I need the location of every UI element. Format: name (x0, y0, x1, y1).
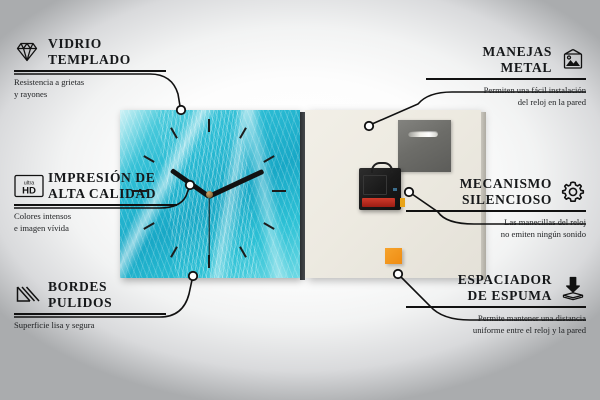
callout-rule (14, 313, 166, 315)
callout-description: Colores intensos e imagen vívida (14, 210, 184, 234)
callout-bordes-pulidos: BORDES PULIDOS Superficie lisa y segura (14, 279, 174, 331)
callout-impresion-alta-calidad: ultra HD IMPRESIÓN DE ALTA CALIDAD Color… (14, 170, 184, 234)
polished-edges-icon (14, 282, 40, 308)
gear-icon (560, 179, 586, 205)
callout-header: MECANISMO SILENCIOSO (406, 176, 586, 207)
callout-rule (14, 70, 166, 72)
clock-center-cap (206, 191, 213, 198)
picture-frame-icon (560, 47, 586, 73)
callout-description: Las manecillas del reloj no emiten ningú… (406, 216, 586, 240)
callout-title: VIDRIO TEMPLADO (48, 36, 131, 67)
infographic-canvas: VIDRIO TEMPLADO Resistencia a grietas y … (0, 0, 600, 400)
callout-rule (14, 204, 177, 206)
foam-spacer-part (385, 248, 402, 264)
callout-rule (406, 210, 586, 212)
tick-12 (208, 119, 210, 132)
callout-title: BORDES PULIDOS (48, 279, 112, 310)
mechanism-hook (371, 162, 393, 173)
callout-description: Permiten una fácil instalación del reloj… (426, 84, 586, 108)
mechanism-detail-line (363, 175, 387, 195)
ultra-hd-icon: ultra HD (14, 173, 40, 199)
tick-3 (272, 190, 286, 192)
arrow-down-block-icon (560, 275, 586, 301)
callout-title: MANEJAS METAL (483, 44, 552, 75)
mechanism-led (393, 188, 397, 191)
callout-mecanismo-silencioso: MECANISMO SILENCIOSO Las manecillas del … (406, 176, 586, 240)
callout-header: ESPACIADOR DE ESPUMA (406, 272, 586, 303)
battery-part (362, 198, 395, 207)
callout-header: VIDRIO TEMPLADO (14, 36, 174, 67)
callout-title: ESPACIADOR DE ESPUMA (458, 272, 552, 303)
hanger-slot (408, 131, 438, 137)
callout-description: Permite mantener una distancia uniforme … (406, 312, 586, 336)
callout-header: ultra HD IMPRESIÓN DE ALTA CALIDAD (14, 170, 184, 201)
hanger-plate-part (398, 120, 451, 172)
callout-espaciador-espuma: ESPACIADOR DE ESPUMA Permite mantener un… (406, 272, 586, 336)
callout-rule (426, 78, 586, 80)
diamond-icon (14, 39, 40, 65)
callout-description: Resistencia a grietas y rayones (14, 76, 174, 100)
callout-manejas-metal: MANEJAS METAL Permiten una fácil instala… (426, 44, 586, 108)
callout-rule (406, 306, 586, 308)
callout-title: IMPRESIÓN DE ALTA CALIDAD (48, 170, 156, 201)
svg-text:HD: HD (22, 185, 36, 196)
callout-description: Superficie lisa y segura (14, 319, 174, 331)
callout-header: BORDES PULIDOS (14, 279, 174, 310)
battery-terminal (400, 198, 405, 207)
second-hand (208, 196, 209, 259)
callout-title: MECANISMO SILENCIOSO (460, 176, 552, 207)
callout-vidrio-templado: VIDRIO TEMPLADO Resistencia a grietas y … (14, 36, 174, 100)
clock-mechanism-part (359, 168, 401, 210)
callout-header: MANEJAS METAL (426, 44, 586, 75)
